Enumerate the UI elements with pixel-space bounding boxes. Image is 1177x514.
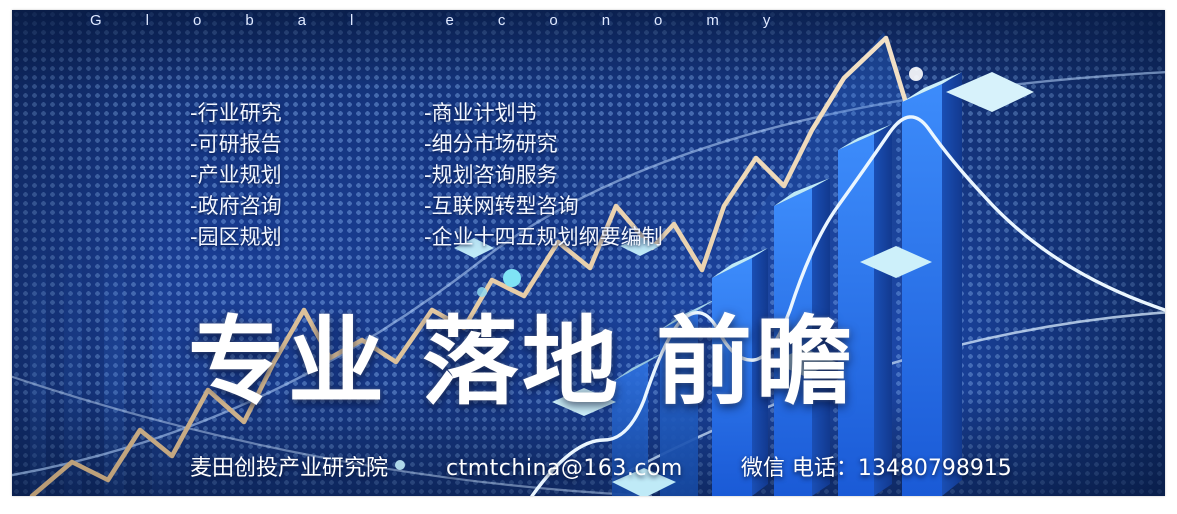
phone-contact: 微信 电话：13480798915 xyxy=(741,450,1012,482)
service-item: -可研报告 xyxy=(190,129,282,160)
headline: 专业落地前瞻 xyxy=(188,310,856,414)
service-item: -产业规划 xyxy=(190,160,282,191)
headline-word-3: 前瞻 xyxy=(656,306,856,418)
service-item: -互联网转型咨询 xyxy=(424,191,663,222)
services-column-right: -商业计划书 -细分市场研究 -规划咨询服务 -互联网转型咨询 -企业十四五规划… xyxy=(424,98,663,253)
headline-word-2: 落地 xyxy=(422,306,622,418)
email-address: ctmtchina@163.com xyxy=(446,456,683,481)
arc-dot-marker-2 xyxy=(477,287,487,297)
service-item: -商业计划书 xyxy=(424,98,663,129)
arc-dot-marker xyxy=(503,269,521,287)
org-name: 麦田创投产业研究院 xyxy=(190,450,388,482)
service-item: -细分市场研究 xyxy=(424,129,663,160)
bar-6 xyxy=(902,72,962,496)
peak-dot-marker xyxy=(909,67,923,81)
footer-contact-bar: 麦田创投产业研究院ctmtchina@163.com微信 电话：13480798… xyxy=(190,450,1012,482)
banner-root: Global economy -行业研究 -可研报告 -产业规划 -政府咨询 -… xyxy=(12,10,1165,496)
service-item: -行业研究 xyxy=(190,98,282,129)
background-gradient xyxy=(12,10,1165,496)
bar-group xyxy=(612,72,962,496)
world-map-dot-texture xyxy=(12,10,1165,496)
service-item: -园区规划 xyxy=(190,222,282,253)
service-item: -规划咨询服务 xyxy=(424,160,663,191)
background-bar-silhouettes xyxy=(12,10,1165,496)
service-item: -企业十四五规划纲要编制 xyxy=(424,222,663,253)
headline-word-1: 专业 xyxy=(188,306,388,418)
background-vignette xyxy=(12,10,1165,496)
kicker-text: Global economy xyxy=(90,12,814,29)
services-column-left: -行业研究 -可研报告 -产业规划 -政府咨询 -园区规划 xyxy=(190,98,282,253)
growth-chart-graphic xyxy=(12,10,1165,496)
service-item: -政府咨询 xyxy=(190,191,282,222)
